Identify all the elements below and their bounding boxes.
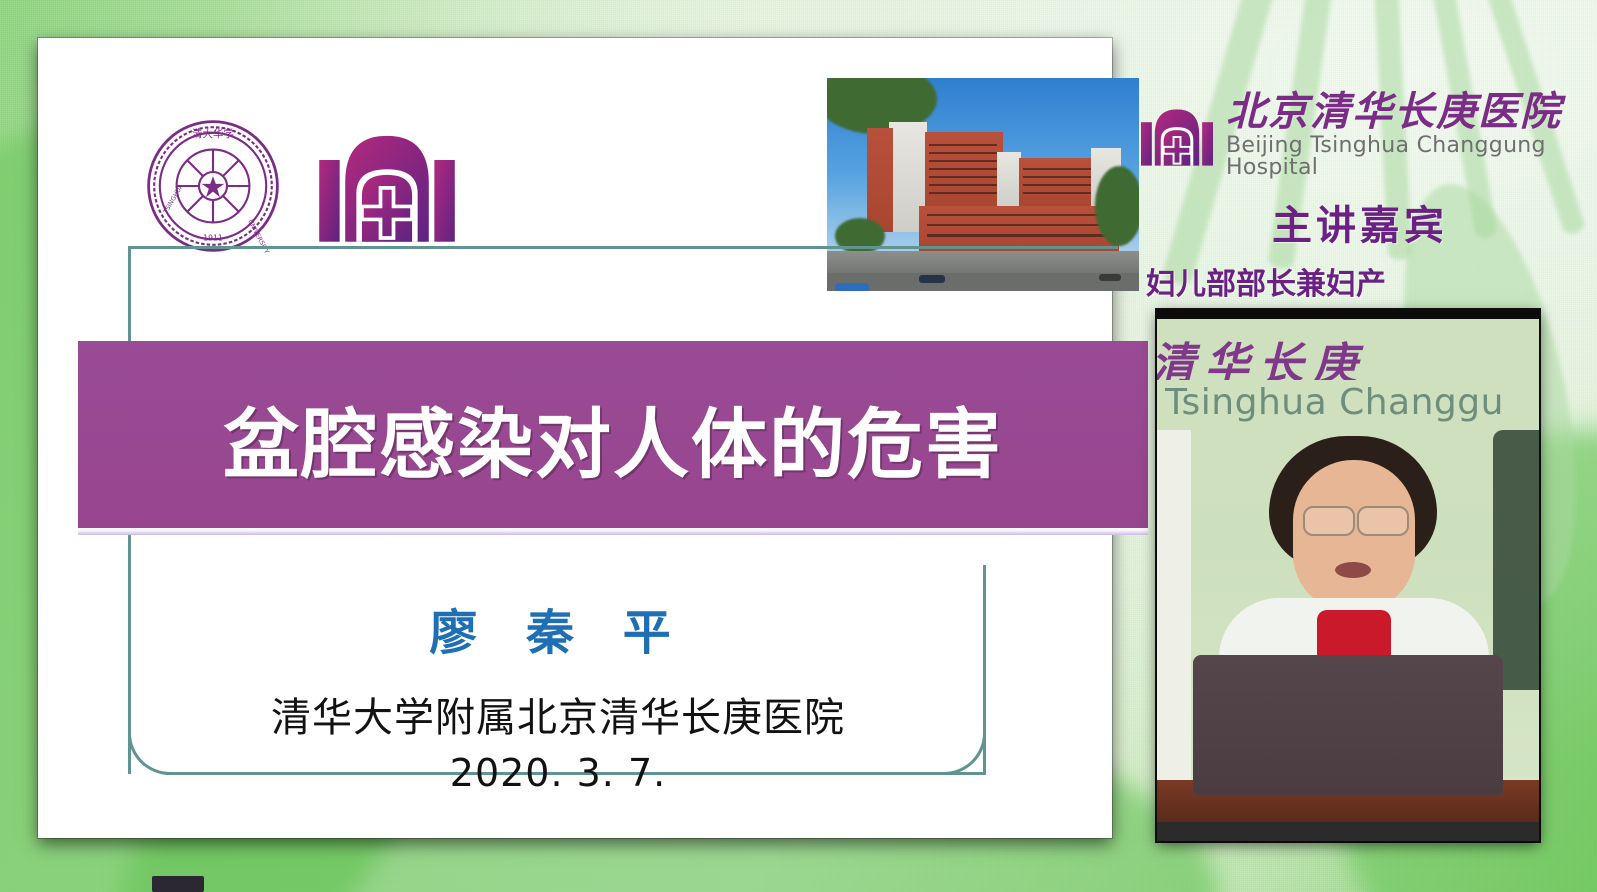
hospital-gate-cross-logo-icon	[317, 121, 457, 251]
laptop-lid: 	[1193, 655, 1503, 795]
screen-stage: 清大华学 ~1911~ TSINGHUA UNIVERSITY	[0, 0, 1597, 892]
video-wall-panel-left	[1157, 430, 1191, 790]
hospital-gate-cross-logo-icon	[1140, 101, 1214, 171]
speaker-glasses-left	[1303, 506, 1355, 536]
video-desk-edge	[1157, 822, 1539, 841]
video-top-letterbox	[1157, 310, 1539, 319]
slide-title-band: 盆腔感染对人体的危害	[78, 341, 1148, 534]
guest-speaker-role: 妇儿部部长兼妇产	[1130, 259, 1590, 303]
speaker-mouth	[1335, 562, 1371, 578]
video-chair-right	[1493, 430, 1539, 690]
speaker-glasses-right	[1357, 506, 1409, 536]
speaker-info-block: 廖 秦 平 清华大学附属北京清华长庚医院 2020. 3. 7.	[128, 593, 988, 795]
presentation-date: 2020. 3. 7.	[128, 751, 988, 795]
tsinghua-university-seal-icon: 清大华学 ~1911~ TSINGHUA UNIVERSITY	[143, 116, 283, 256]
hospital-name-group: 北京清华长庚医院 Beijing Tsinghua Changgung Hosp…	[1226, 92, 1590, 179]
hospital-name-cn: 北京清华长庚医院	[1226, 92, 1590, 132]
svg-text:TSINGHUA: TSINGHUA	[162, 182, 185, 215]
svg-text:清大华学: 清大华学	[192, 127, 234, 140]
guest-speaker-heading: 主讲嘉宾	[1130, 193, 1590, 251]
slide-logo-row: 清大华学 ~1911~ TSINGHUA UNIVERSITY	[143, 116, 457, 256]
slide-title-band-accent-line	[78, 528, 1148, 535]
right-sidebar: 北京清华长庚医院 Beijing Tsinghua Changgung Hosp…	[1130, 92, 1590, 303]
hospital-branding-row: 北京清华长庚医院 Beijing Tsinghua Changgung Hosp…	[1130, 92, 1590, 179]
player-control-chip[interactable]	[152, 876, 204, 892]
presentation-slide[interactable]: 清大华学 ~1911~ TSINGHUA UNIVERSITY	[38, 38, 1112, 838]
speaker-name: 廖 秦 平	[128, 593, 988, 663]
hospital-building-photo	[827, 78, 1139, 291]
speaker-video-feed[interactable]: 清华长庚 Tsinghua Changgu 	[1157, 310, 1539, 841]
video-backdrop-text-en: Tsinghua Changgu	[1165, 382, 1539, 423]
svg-text:~1911~: ~1911~	[197, 234, 229, 243]
hospital-name-en: Beijing Tsinghua Changgung Hospital	[1226, 135, 1590, 179]
video-backdrop-text-cn: 清华长庚	[1157, 328, 1539, 380]
speaker-face	[1293, 460, 1415, 612]
speaker-organization: 清华大学附属北京清华长庚医院	[128, 685, 988, 743]
slide-frame-top-line	[128, 246, 1118, 249]
slide-title: 盆腔感染对人体的危害	[223, 383, 1003, 493]
